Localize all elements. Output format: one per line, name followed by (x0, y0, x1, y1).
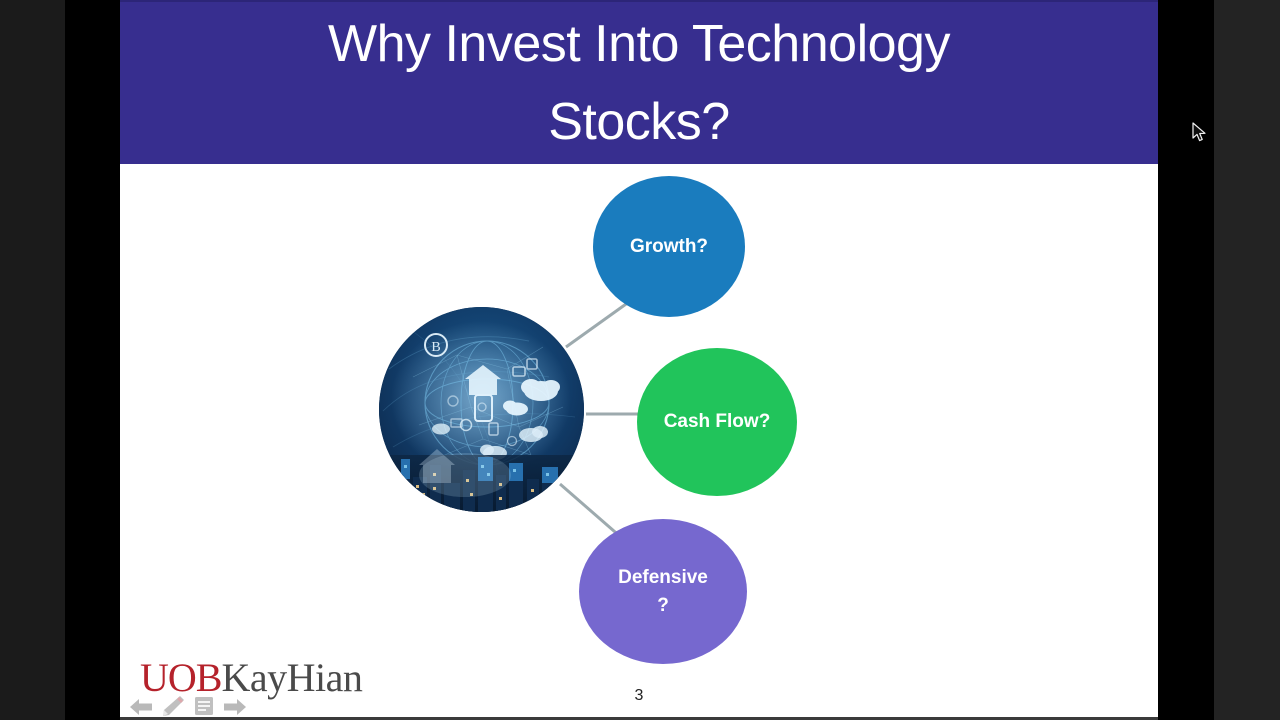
node-growth[interactable]: Growth? (593, 176, 745, 317)
letterbox-right (1158, 0, 1214, 720)
technology-hub-image: B (379, 307, 584, 512)
arrow-right-icon[interactable] (222, 696, 248, 718)
node-defensive[interactable]: Defensive ? (579, 519, 747, 664)
node-cashflow-label: Cash Flow? (664, 408, 771, 436)
desktop-background-right (1214, 0, 1280, 720)
presentation-slide[interactable]: Why Invest Into Technology Stocks? (120, 0, 1158, 720)
pen-icon[interactable] (160, 694, 186, 718)
svg-text:B: B (431, 340, 440, 355)
node-growth-label: Growth? (630, 233, 708, 261)
arrow-left-icon[interactable] (128, 696, 154, 718)
letterbox-left (65, 0, 120, 720)
page-title: Why Invest Into Technology Stocks? (204, 5, 1074, 161)
node-defensive-label: Defensive ? (618, 564, 708, 619)
presenter-controls[interactable] (128, 694, 248, 718)
screen: Why Invest Into Technology Stocks? (0, 0, 1280, 720)
slide-title-bar: Why Invest Into Technology Stocks? (120, 0, 1158, 164)
slide-body: B (120, 164, 1158, 720)
network-globe-graphic: B (379, 307, 584, 512)
node-cashflow[interactable]: Cash Flow? (637, 348, 797, 496)
slide-number: 3 (120, 687, 1158, 705)
menu-icon[interactable] (192, 694, 216, 718)
desktop-background-left (0, 0, 65, 720)
